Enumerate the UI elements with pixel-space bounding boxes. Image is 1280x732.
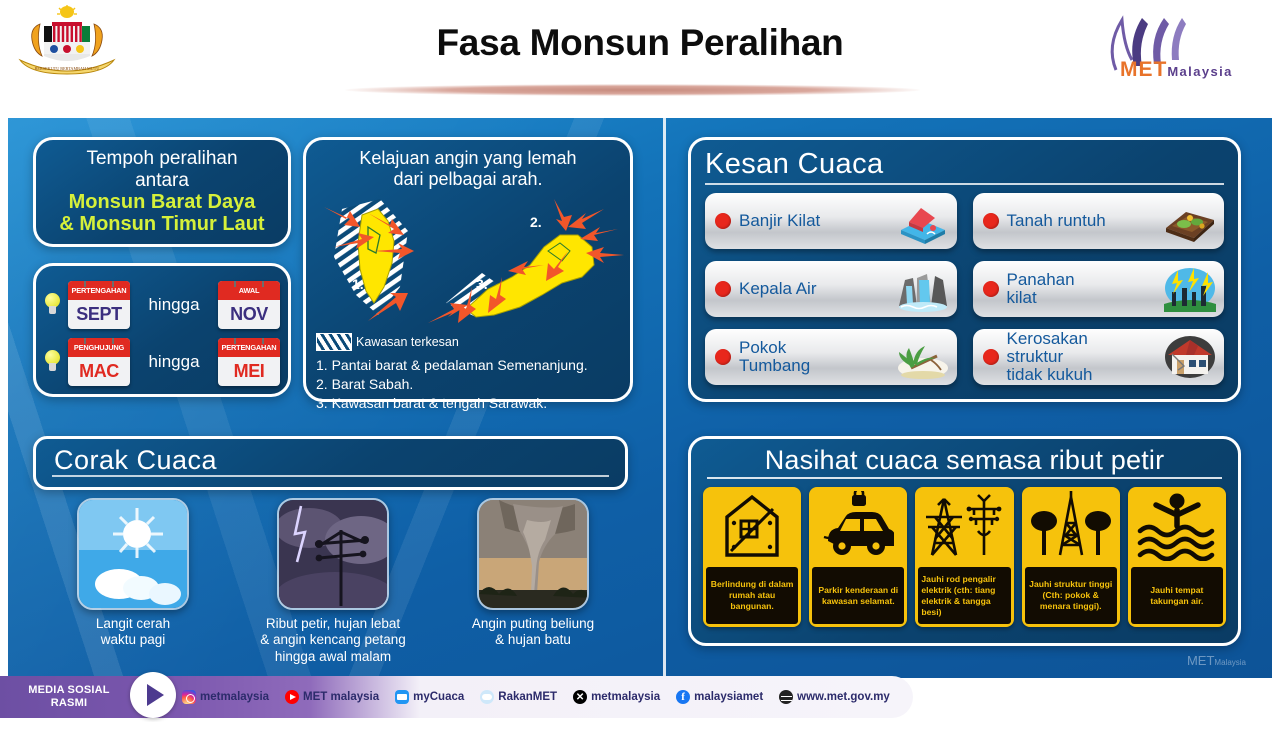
calendar-to: AWAL NOV [218,281,280,329]
label-line: Tanah runtuh [1007,212,1165,230]
caption-line: Ribut petir, hujan lebat [233,616,433,632]
play-triangle-icon[interactable] [130,672,176,718]
shelter-house-icon [703,487,801,565]
corak-cuaca-photos: Langit cerah waktu pagi [33,498,633,648]
social-link-facebook[interactable]: f malaysiamet [676,690,763,704]
kesan-column-left: Banjir Kilat [705,193,957,385]
caption-line: waktu pagi [33,632,233,648]
label-line: Panahan [1007,271,1165,289]
kesan-item-label: Banjir Kilat [739,212,897,230]
social-handle: www.met.gov.my [797,691,890,703]
calendar-month: SEPT [68,300,130,329]
weather-photo-item: Langit cerah waktu pagi [33,498,233,648]
kesan-cuaca-rule [705,183,1224,185]
bullet-dot-icon [715,349,731,365]
map-area-item: 3. Kawasan barat & tengah Sarawak. [316,394,620,413]
social-link-website[interactable]: www.met.gov.my [779,690,890,704]
caption-line: Angin puting beliung [433,616,633,632]
kesan-item-banjir-kilat[interactable]: Banjir Kilat [705,193,957,249]
calendar-qualifier: PERTENGAHAN [218,338,280,357]
map-legend-label: Kawasan terkesan [356,335,459,349]
youtube-icon [285,690,299,704]
kesan-item-panahan-kilat[interactable]: Panahan kilat [973,261,1225,317]
parked-car-lock-icon [809,487,907,565]
social-link-mycuaca[interactable]: myCuaca [395,690,464,704]
nasihat-card-shelter[interactable]: Berlindung di dalam rumah atau bangunan. [703,487,801,627]
social-handle: metmalaysia [591,691,660,703]
waterfall-icon [897,266,949,312]
svg-text:1.: 1. [352,276,364,292]
lightbulb-icon [44,293,61,317]
nasihat-card-text: Berlindung di dalam rumah atau bangunan. [706,567,798,624]
social-handle: malaysiamet [694,691,763,703]
label-line: tidak kukuh [1007,366,1165,384]
wind-direction-map-card: Kelajuan angin yang lemah dari pelbagai … [303,137,633,402]
slide-root: BERSEKUTU BERTAMBAH MUTU Fasa Monsun Per… [0,0,1280,732]
map-area-item: 2. Barat Sabah. [316,375,620,394]
nasihat-card-water-body[interactable]: Jauhi tempat takungan air. [1128,487,1226,627]
label-line: kilat [1007,289,1165,307]
landslide-icon [1164,198,1216,244]
kesan-item-kepala-air[interactable]: Kepala Air [705,261,957,317]
calendar-month: MEI [218,357,280,386]
calendar-connector: hingga [134,352,214,372]
weather-photo-item: Ribut petir, hujan lebat & angin kencang… [233,498,433,648]
panel-divider [663,118,666,678]
social-media-bar: MEDIA SOSIAL RASMI metmalaysia MET malay… [0,676,913,718]
met-logo-wordmark: METMalaysia [1120,58,1233,82]
kesan-item-tanah-runtuh[interactable]: Tanah runtuh [973,193,1225,249]
social-handle: MET malaysia [303,691,379,703]
map-area-item: 1. Pantai barat & pedalaman Semenanjung. [316,356,620,375]
infographic-canvas: Tempoh peralihan antara Monsun Barat Day… [8,118,1272,678]
clear-sky-icon [77,498,189,610]
calendar-month: MAC [68,357,130,386]
lightbulb-icon [44,350,61,374]
tempoh-line4: & Monsun Timur Laut [59,213,264,235]
kesan-item-pokok-tumbang[interactable]: Pokok Tumbang [705,329,957,385]
bottom-white-strip [0,722,1280,732]
social-label-line1: MEDIA SOSIAL [14,684,124,697]
bullet-dot-icon [983,213,999,229]
calendar-month: NOV [218,300,280,329]
kesan-item-label: Kepala Air [739,280,897,298]
instagram-icon [182,690,196,704]
rakanmet-icon [480,690,494,704]
weather-photo-caption: Angin puting beliung & hujan batu [433,616,633,649]
jata-negara-crest-icon: BERSEKUTU BERTAMBAH MUTU [14,4,120,86]
met-watermark: METMalaysia [1187,653,1246,668]
social-handle: RakanMET [498,691,557,703]
nasihat-cuaca-rule [707,477,1222,479]
social-link-instagram[interactable]: metmalaysia [182,690,269,704]
met-logo-sub: Malaysia [1167,64,1232,79]
calendar-connector: hingga [134,295,214,315]
social-bar-label: MEDIA SOSIAL RASMI [14,684,124,710]
power-pylon-icon [915,487,1013,565]
nasihat-card-text: Parkir kenderaan di kawasan selamat. [812,567,904,624]
fallen-tree-icon [897,334,949,380]
label-line: Banjir Kilat [739,212,897,230]
nasihat-cuaca-title: Nasihat cuaca semasa ribut petir [703,445,1226,476]
page-title: Fasa Monsun Peralihan [340,22,940,64]
calendar-row: PERTENGAHAN SEPT hingga AWAL NOV [44,276,280,333]
nasihat-card-text: Jauhi rod pengalir elektrik (cth: tiang … [918,567,1010,624]
lightning-strike-icon [1164,266,1216,312]
social-link-rakanmet[interactable]: RakanMET [480,690,557,704]
bullet-dot-icon [715,281,731,297]
watermark-main: MET [1187,653,1214,668]
tempoh-line1: Tempoh peralihan [59,148,264,169]
caption-line: & hujan batu [433,632,633,648]
kesan-column-right: Tanah runtuh [973,193,1225,385]
kesan-cuaca-title: Kesan Cuaca [705,148,1224,181]
damaged-house-icon [1164,334,1216,380]
website-globe-icon [779,690,793,704]
bullet-dot-icon [983,281,999,297]
social-label-line2: RASMI [14,697,124,710]
label-line: Pokok [739,339,897,357]
social-links: metmalaysia MET malaysia myCuaca RakanME… [182,676,901,718]
kesan-item-label: Kerosakan struktur tidak kukuh [1007,330,1165,384]
map-title-line1: Kelajuan angin yang lemah [316,148,620,169]
label-line: struktur [1007,348,1165,366]
nasihat-card-power-lines[interactable]: Jauhi rod pengalir elektrik (cth: tiang … [915,487,1013,627]
weather-photo-item: Angin puting beliung & hujan batu [433,498,633,648]
tempoh-peralihan-card: Tempoh peralihan antara Monsun Barat Day… [33,137,291,247]
kesan-item-label: Panahan kilat [1007,271,1165,307]
map-area-list: 1. Pantai barat & pedalaman Semenanjung.… [316,356,620,412]
label-line: Tumbang [739,357,897,375]
tornado-icon [477,498,589,610]
tempoh-line2: antara [59,170,264,191]
calendar-qualifier: PENGHUJUNG [68,338,130,357]
slide-header: BERSEKUTU BERTAMBAH MUTU Fasa Monsun Per… [0,0,1280,112]
weather-photo-caption: Ribut petir, hujan lebat & angin kencang… [233,616,433,665]
caption-line: hingga awal malam [233,649,433,665]
facebook-icon: f [676,690,690,704]
map-legend: Kawasan terkesan [316,333,620,351]
hatch-swatch-icon [316,333,352,351]
mycuaca-app-icon [395,690,409,704]
bullet-dot-icon [983,349,999,365]
calendar-to: PERTENGAHAN MEI [218,338,280,386]
svg-text:2.: 2. [530,214,542,230]
weather-photo-caption: Langit cerah waktu pagi [33,616,233,649]
tall-tower-tree-icon [1022,487,1120,565]
calendar-qualifier: PERTENGAHAN [68,281,130,300]
social-link-youtube[interactable]: MET malaysia [285,690,379,704]
corak-cuaca-header: Corak Cuaca [33,436,628,490]
kesan-item-kerosakan-struktur[interactable]: Kerosakan struktur tidak kukuh [973,329,1225,385]
nasihat-cuaca-panel: Nasihat cuaca semasa ribut petir [688,436,1241,646]
bullet-dot-icon [715,213,731,229]
corak-cuaca-rule [52,475,609,477]
met-malaysia-logo: METMalaysia [1098,8,1238,86]
social-handle: metmalaysia [200,691,269,703]
svg-text:3.: 3. [476,276,488,292]
kesan-item-label: Pokok Tumbang [739,339,897,375]
caption-line: Langit cerah [33,616,233,632]
watermark-sub: Malaysia [1214,658,1246,667]
social-handle: myCuaca [413,691,464,703]
nasihat-card-text: Jauhi tempat takungan air. [1131,567,1223,624]
nasihat-card-text: Jauhi struktur tinggi (Cth: pokok & mena… [1025,567,1117,624]
label-line: Kerosakan [1007,330,1165,348]
caption-line: & angin kencang petang [233,632,433,648]
corak-cuaca-title: Corak Cuaca [54,445,217,476]
nasihat-card-park-car[interactable]: Parkir kenderaan di kawasan selamat. [809,487,907,627]
map-title-line2: dari pelbagai arah. [316,169,620,190]
kesan-cuaca-panel: Kesan Cuaca Banjir Kilat [688,137,1241,402]
x-twitter-icon: ✕ [573,690,587,704]
kesan-item-label: Tanah runtuh [1007,212,1165,230]
social-link-x[interactable]: ✕ metmalaysia [573,690,660,704]
calendar-qualifier: AWAL [218,281,280,300]
label-line: Kepala Air [739,280,897,298]
calendar-from: PERTENGAHAN SEPT [68,281,130,329]
calendar-period-card: PERTENGAHAN SEPT hingga AWAL NOV PENGHUJ… [33,263,291,397]
calendar-from: PENGHUJUNG MAC [68,338,130,386]
malaysia-map-illustration: 1. 2. 3. [316,191,620,331]
title-underline-ornament [345,84,920,96]
tempoh-line3: Monsun Barat Daya [59,191,264,213]
flooded-house-icon [897,198,949,244]
person-in-water-icon [1128,487,1226,565]
svg-text:BERSEKUTU BERTAMBAH MUTU: BERSEKUTU BERTAMBAH MUTU [35,66,100,71]
nasihat-card-tall-structures[interactable]: Jauhi struktur tinggi (Cth: pokok & mena… [1022,487,1120,627]
thunderstorm-icon [277,498,389,610]
calendar-row: PENGHUJUNG MAC hingga PERTENGAHAN MEI [44,333,280,390]
